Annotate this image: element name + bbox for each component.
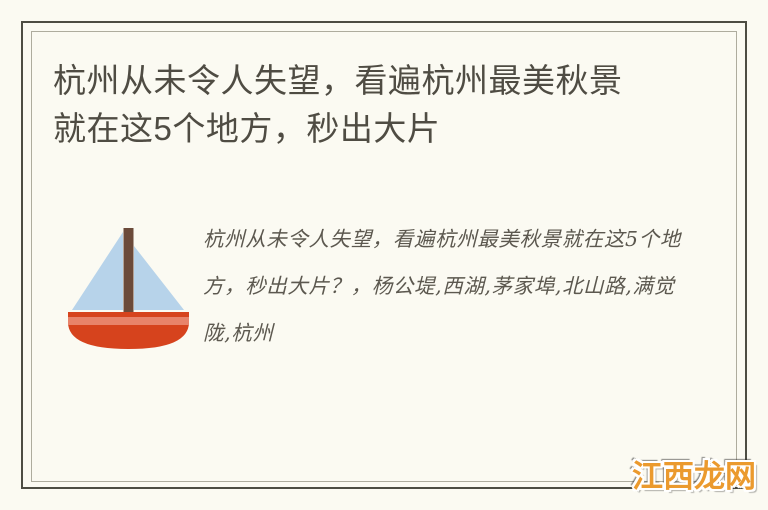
sailboat-icon — [66, 218, 191, 350]
article-thumbnail — [53, 210, 203, 360]
site-watermark: 江西龙网 — [632, 451, 756, 496]
article-summary: 杭州从未令人失望，看遍杭州最美秋景就在这5个地方，秒出大片？，杨公堤,西湖,茅家… — [203, 210, 693, 357]
article-body: 杭州从未令人失望，看遍杭州最美秋景就在这5个地方，秒出大片？，杨公堤,西湖,茅家… — [53, 210, 693, 360]
article-title: 杭州从未令人失望，看遍杭州最美秋景就在这5个地方，秒出大片 — [53, 57, 643, 153]
